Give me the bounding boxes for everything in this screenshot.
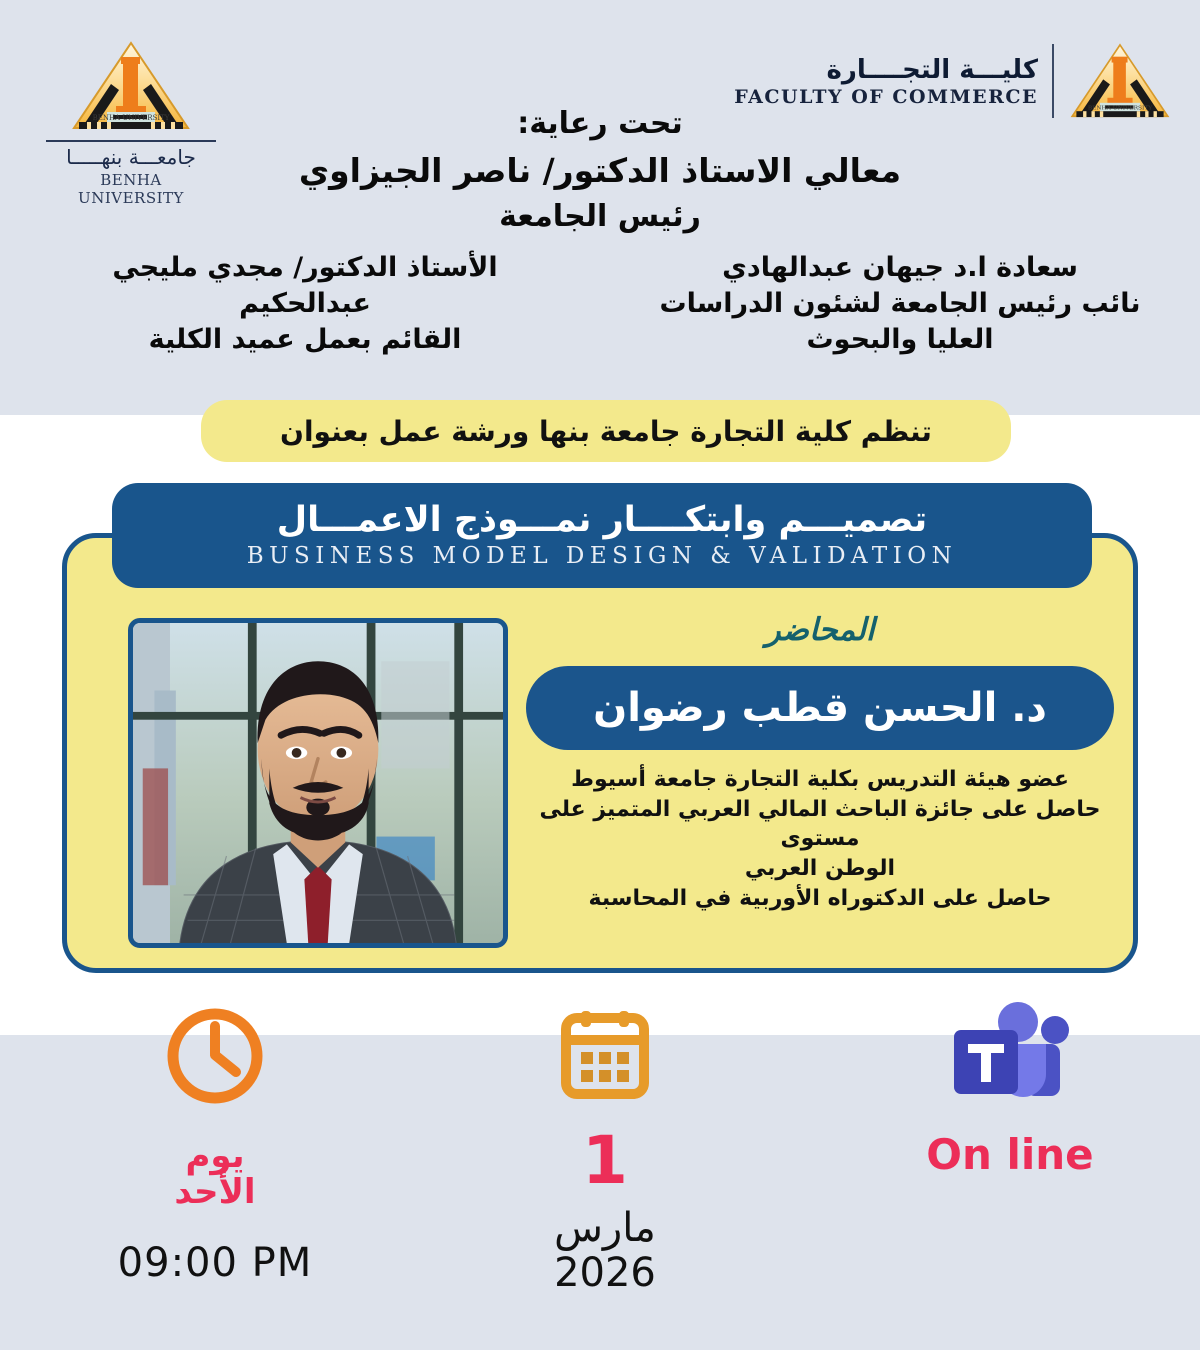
official-vice-president: سعادة ا.د جيهان عبدالهادي نائب رئيس الجا… (600, 250, 1160, 359)
patronage-line-3: رئيس الجامعة (0, 197, 1200, 237)
workshop-title-arabic: تصميـــم وابتكــــار نمـــوذج الاعمـــال (277, 502, 927, 539)
event-mode-block: On line (800, 1000, 1200, 1179)
speaker-name: د. الحسن قطب رضوان (526, 666, 1114, 750)
clock-icon (163, 1000, 267, 1112)
workshop-title-ribbon: تصميـــم وابتكــــار نمـــوذج الاعمـــال… (112, 483, 1092, 588)
event-date-block: 1 مارس 2026 (400, 1000, 800, 1296)
event-day-number: 1 (582, 1128, 628, 1194)
faculty-logo-text-group: كليـــة التجــــارة FACULTY OF COMMERCE (734, 55, 1038, 108)
workshop-title-english: BUSINESS MODEL DESIGN & VALIDATION (247, 543, 958, 569)
event-day-line-2: الأحد (174, 1174, 255, 1210)
event-day-line-1: يوم (174, 1138, 255, 1174)
event-time-block: يوم الأحد 09:00 PM (0, 1000, 400, 1286)
event-year: 2026 (554, 1251, 656, 1296)
speaker-bio-line-2: حاصل على جائزة الباحث المالي العربي المت… (526, 795, 1114, 854)
speaker-bio-line-1: عضو هيئة التدريس بكلية التجارة جامعة أسي… (526, 765, 1114, 795)
official-name: الأستاذ الدكتور/ مجدي مليجي (40, 250, 570, 286)
speaker-photo (128, 618, 508, 948)
officials-row: سعادة ا.د جيهان عبدالهادي نائب رئيس الجا… (0, 250, 1200, 359)
speaker-label: المحاضر (520, 612, 1120, 648)
event-month: مارس (554, 1206, 656, 1251)
faculty-arabic-text: كليـــة التجــــارة (734, 55, 1038, 85)
speaker-bio-line-3: الوطن العربي (526, 854, 1114, 884)
announcement-banner: تنظم كلية التجارة جامعة بنها ورشة عمل بع… (201, 400, 1011, 462)
official-name: سعادة ا.د جيهان عبدالهادي (640, 250, 1160, 286)
patronage-block: تحت رعاية: معالي الاستاذ الدكتور/ ناصر ا… (0, 104, 1200, 237)
patronage-line-1: تحت رعاية: (0, 104, 1200, 144)
event-info-row: يوم الأحد 09:00 PM 1 ما (0, 1000, 1200, 1350)
official-title-line-1: عبدالحكيم (40, 286, 570, 322)
event-mode-label: On line (926, 1130, 1093, 1179)
microsoft-teams-icon (942, 1000, 1078, 1112)
official-acting-dean: الأستاذ الدكتور/ مجدي مليجي عبدالحكيم ال… (40, 250, 600, 359)
speaker-bio: عضو هيئة التدريس بكلية التجارة جامعة أسي… (520, 765, 1120, 913)
event-time-value: 09:00 PM (118, 1240, 313, 1286)
event-day-label: يوم الأحد (174, 1138, 255, 1210)
speaker-bio-line-4: حاصل على الدكتوراه الأوربية في المحاسبة (526, 884, 1114, 914)
speaker-details: المحاضر د. الحسن قطب رضوان عضو هيئة التد… (520, 612, 1120, 913)
official-title-line-2: القائم بعمل عميد الكلية (40, 322, 570, 358)
patronage-line-2: معالي الاستاذ الدكتور/ ناصر الجيزاوي (0, 149, 1200, 193)
official-title-line-2: العليا والبحوث (640, 322, 1160, 358)
calendar-icon (553, 1000, 657, 1112)
official-title-line-1: نائب رئيس الجامعة لشئون الدراسات (640, 286, 1160, 322)
